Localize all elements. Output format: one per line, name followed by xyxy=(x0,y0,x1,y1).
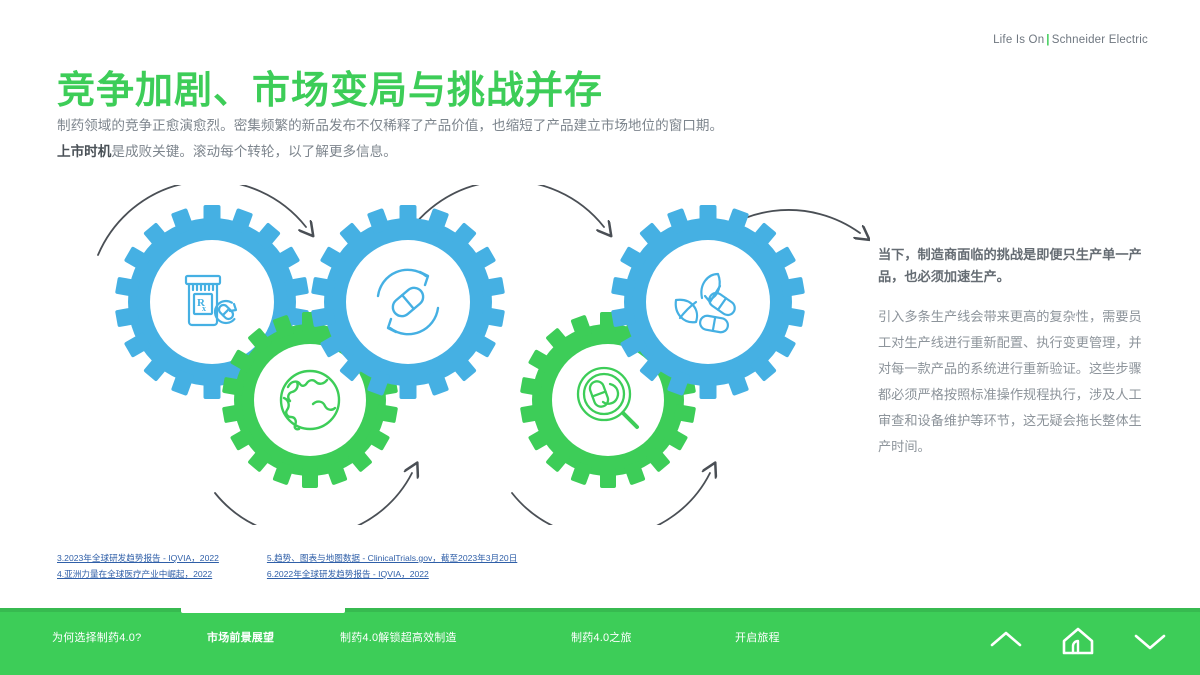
footnote-4[interactable]: 4.亚洲力量在全球医疗产业中崛起，2022 xyxy=(57,568,219,581)
intro-line-2: 是成败关键。滚动每个转轮，以了解更多信息。 xyxy=(111,144,396,159)
footnote-6[interactable]: 6.2022年全球研发趋势报告 - IQVIA，2022 xyxy=(267,568,517,581)
nav-item-market-outlook[interactable]: 市场前景展望 xyxy=(207,629,274,645)
chevron-down-icon[interactable] xyxy=(1128,622,1172,660)
gear-5[interactable] xyxy=(611,205,805,399)
nav-icon-group xyxy=(984,622,1172,660)
side-text-block: 当下，制造商面临的挑战是即便只生产单一产品，也必须加速生产。 引入多条生产线会带… xyxy=(878,244,1146,460)
nav-items: 为何选择制药4.0? 市场前景展望 制药4.0解锁超高效制造 制药4.0之旅 开… xyxy=(0,629,880,653)
gear-diagram-svg: R x xyxy=(60,185,870,525)
svg-text:x: x xyxy=(202,304,206,313)
footnote-column-right: 5.趋势、图表与地图数据 - ClinicalTrials.gov，截至2023… xyxy=(267,552,517,581)
side-text-lead: 当下，制造商面临的挑战是即便只生产单一产品，也必须加速生产。 xyxy=(878,244,1146,288)
footnote-5[interactable]: 5.趋势、图表与地图数据 - ClinicalTrials.gov，截至2023… xyxy=(267,552,517,565)
bottom-navbar: 为何选择制药4.0? 市场前景展望 制药4.0解锁超高效制造 制药4.0之旅 开… xyxy=(0,608,1200,675)
page-title: 竞争加剧、市场变局与挑战并存 xyxy=(57,70,603,114)
chevron-up-icon[interactable] xyxy=(984,622,1028,660)
intro-emphasis: 上市时机 xyxy=(57,144,111,159)
brand-company: Schneider Electric xyxy=(1052,34,1148,46)
nav-item-pharma-40-journey[interactable]: 制药4.0之旅 xyxy=(571,629,632,645)
intro-line-1: 制药领域的竞争正愈演愈烈。密集频繁的新品发布不仅稀释了产品价值，也缩短了产品建立… xyxy=(57,118,723,133)
gear-3[interactable] xyxy=(311,205,505,399)
brand-tagline: Life Is On xyxy=(993,34,1044,46)
brand-separator: | xyxy=(1044,34,1051,46)
footnote-3[interactable]: 3.2023年全球研发趋势报告 - IQVIA，2022 xyxy=(57,552,219,565)
footnotes: 3.2023年全球研发趋势报告 - IQVIA，2022 4.亚洲力量在全球医疗… xyxy=(57,552,677,581)
footnote-column-left: 3.2023年全球研发趋势报告 - IQVIA，2022 4.亚洲力量在全球医疗… xyxy=(57,552,219,581)
slide-root: Life Is On|Schneider Electric 竞争加剧、市场变局与… xyxy=(0,0,1200,675)
navbar-top-edge xyxy=(0,608,1200,612)
gear-diagram: R x xyxy=(60,185,870,525)
gear-5-hub xyxy=(646,240,770,364)
intro-paragraph: 制药领域的竞争正愈演愈烈。密集频繁的新品发布不仅稀释了产品价值，也缩短了产品建立… xyxy=(57,113,877,165)
nav-item-start-journey[interactable]: 开启旅程 xyxy=(735,629,780,645)
brand-lockup: Life Is On|Schneider Electric xyxy=(993,34,1148,46)
active-tab-indicator xyxy=(181,608,345,613)
home-icon[interactable] xyxy=(1056,622,1100,660)
nav-item-why-pharma-40[interactable]: 为何选择制药4.0? xyxy=(52,629,141,645)
side-text-body: 引入多条生产线会带来更高的复杂性，需要员工对生产线进行重新配置、执行变更管理，并… xyxy=(878,304,1146,460)
nav-item-efficient-manufacturing[interactable]: 制药4.0解锁超高效制造 xyxy=(340,629,457,645)
